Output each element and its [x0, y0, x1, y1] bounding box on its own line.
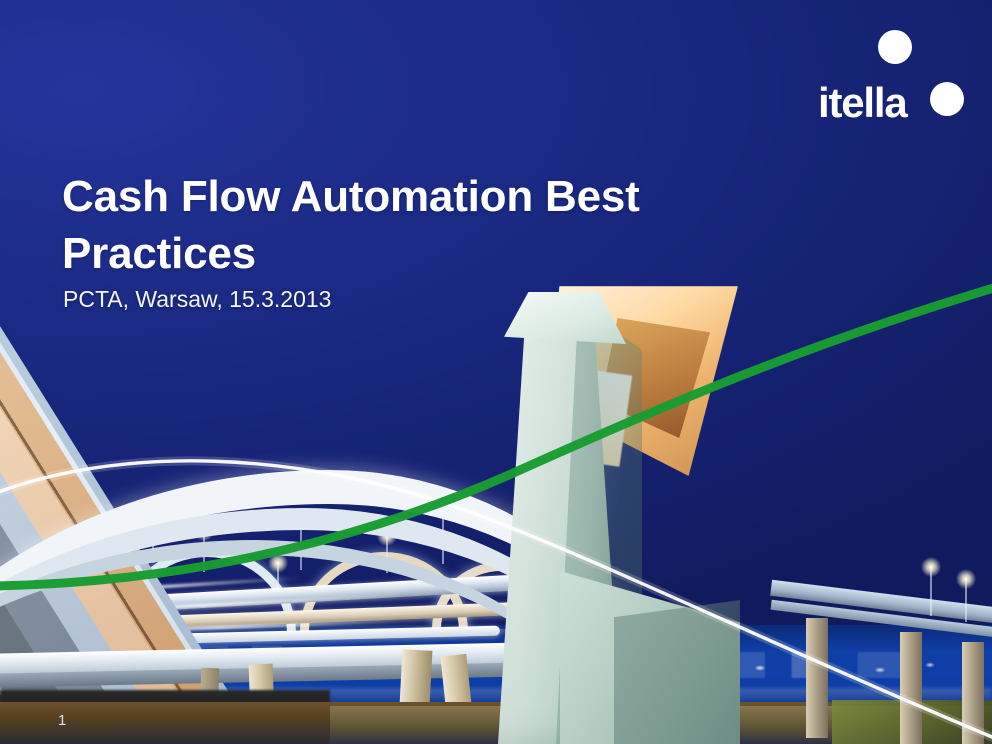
green-swoosh-icon: [0, 286, 992, 586]
brand-dot-top-icon: [878, 30, 912, 64]
title-slide: itella Cash Flow Automation Best Practic…: [0, 0, 992, 744]
slide-title: Cash Flow Automation Best Practices: [62, 169, 702, 282]
white-arc-glow-icon: [0, 461, 992, 742]
slide-subtitle: PCTA, Warsaw, 15.3.2013: [63, 286, 331, 313]
brand-dot-right-icon: [930, 82, 964, 116]
itella-wordmark: itella: [818, 82, 907, 124]
itella-logo: itella: [818, 22, 978, 122]
slide-page-number: 1: [58, 712, 66, 729]
white-arc-icon: [0, 461, 992, 742]
